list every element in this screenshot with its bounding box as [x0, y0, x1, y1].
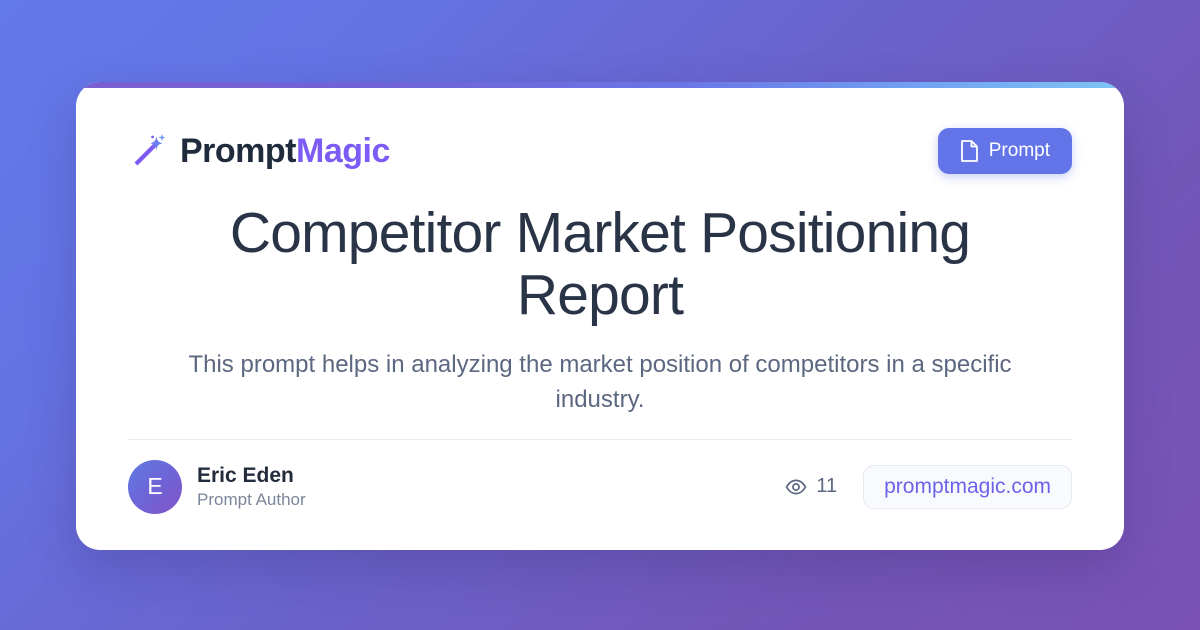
prompt-button[interactable]: Prompt — [938, 128, 1072, 174]
view-count-value: 11 — [816, 475, 837, 498]
brand-name: PromptMagic — [180, 132, 390, 171]
brand-name-primary: Prompt — [180, 132, 296, 170]
brand-name-secondary: Magic — [296, 132, 390, 170]
magic-wand-icon — [128, 131, 168, 171]
avatar: E — [128, 460, 182, 514]
share-card: PromptMagic Prompt Competitor Market Pos… — [76, 82, 1124, 550]
document-icon — [960, 140, 979, 162]
page-subtitle: This prompt helps in analyzing the marke… — [128, 348, 1072, 417]
prompt-button-label: Prompt — [989, 140, 1050, 162]
card-header: PromptMagic Prompt — [128, 126, 1072, 176]
site-badge[interactable]: promptmagic.com — [863, 465, 1072, 509]
author-role: Prompt Author — [197, 491, 306, 510]
author-meta: Eric Eden Prompt Author — [197, 464, 306, 509]
card-content: PromptMagic Prompt Competitor Market Pos… — [76, 82, 1124, 550]
brand-logo[interactable]: PromptMagic — [128, 131, 390, 171]
author-name: Eric Eden — [197, 464, 306, 487]
view-count: 11 — [785, 475, 837, 498]
footer-divider — [128, 439, 1072, 440]
author-block[interactable]: E Eric Eden Prompt Author — [128, 460, 306, 514]
card-footer: E Eric Eden Prompt Author 11 pr — [128, 460, 1072, 514]
footer-right: 11 promptmagic.com — [785, 465, 1072, 509]
page-title: Competitor Market Positioning Report — [128, 202, 1072, 326]
eye-icon — [785, 476, 807, 498]
